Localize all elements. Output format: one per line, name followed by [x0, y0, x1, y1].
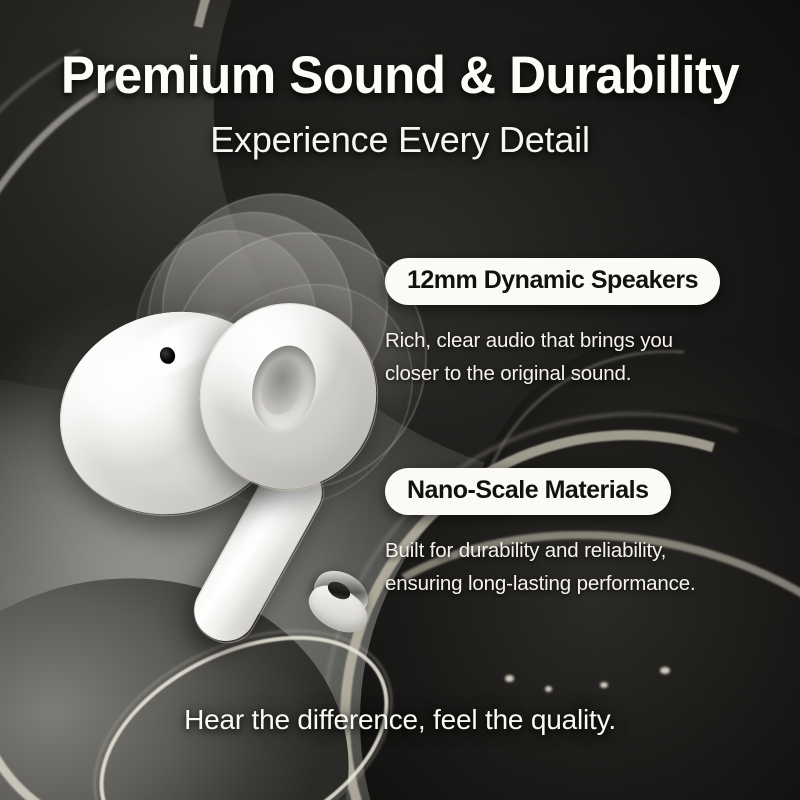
- feature-description-line: Rich, clear audio that brings you: [385, 324, 715, 357]
- background-specular-dot: [600, 682, 608, 688]
- page-title: Premium Sound & Durability: [14, 48, 786, 104]
- feature-description-speakers: Rich, clear audio that brings you closer…: [385, 324, 715, 390]
- footer-tagline: Hear the difference, feel the quality.: [0, 704, 800, 736]
- feature-block-speakers: 12mm Dynamic Speakers Rich, clear audio …: [385, 258, 715, 390]
- feature-block-materials: Nano-Scale Materials Built for durabilit…: [385, 468, 715, 600]
- feature-description-line: ensuring long-lasting performance.: [385, 567, 715, 600]
- background-specular-dot: [505, 675, 514, 682]
- background-specular-dot: [660, 667, 670, 674]
- feature-pill-materials[interactable]: Nano-Scale Materials: [385, 468, 671, 515]
- feature-description-line: closer to the original sound.: [385, 357, 715, 390]
- feature-description-materials: Built for durability and reliability, en…: [385, 534, 715, 600]
- feature-pill-speakers[interactable]: 12mm Dynamic Speakers: [385, 258, 720, 305]
- page-subtitle: Experience Every Detail: [0, 118, 800, 161]
- product-hero-banner: Premium Sound & Durability Experience Ev…: [0, 0, 800, 800]
- feature-description-line: Built for durability and reliability,: [385, 534, 715, 567]
- background-specular-dot: [545, 686, 552, 692]
- wireless-earbud-image: [45, 185, 405, 645]
